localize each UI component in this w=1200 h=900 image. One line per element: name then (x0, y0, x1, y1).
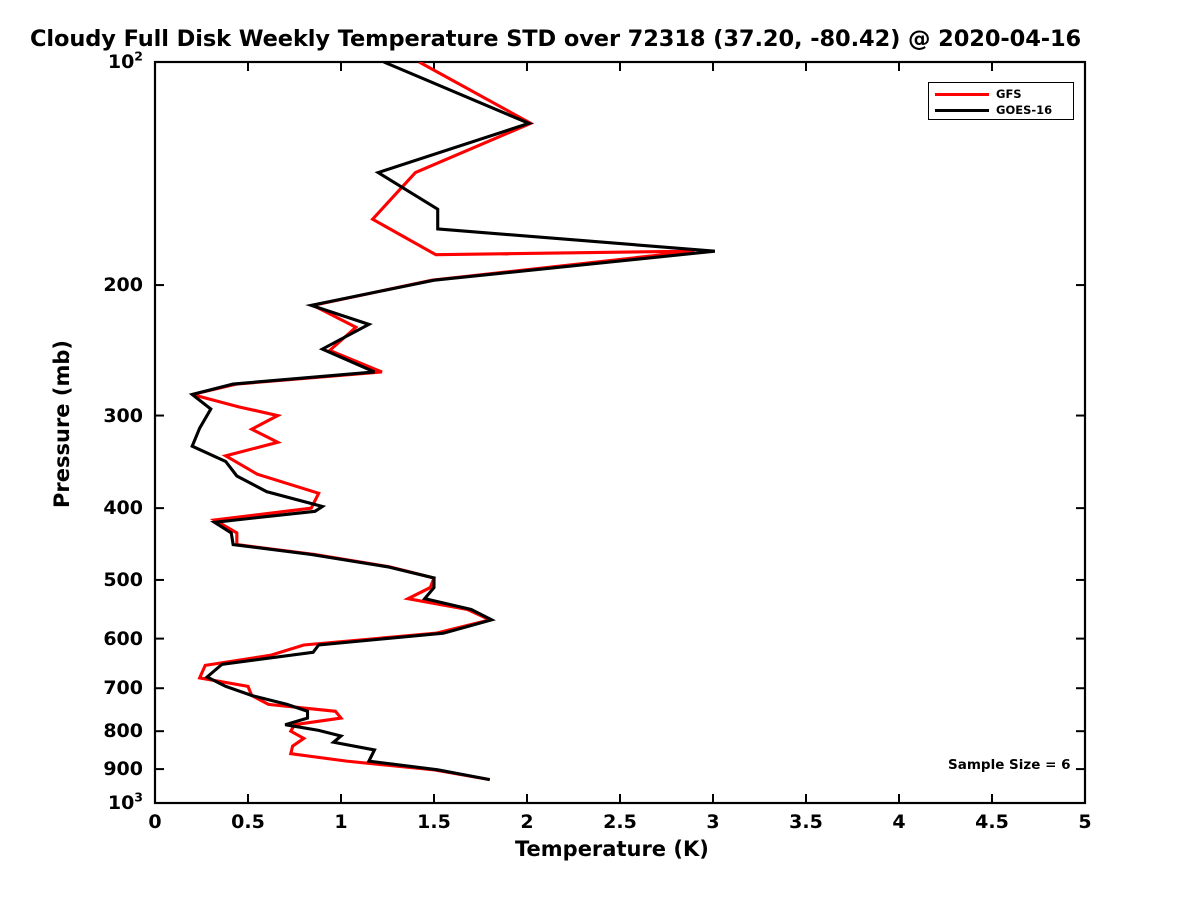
chart-figure: Cloudy Full Disk Weekly Temperature STD … (0, 0, 1200, 900)
y-tick-label: 800 (43, 720, 143, 742)
y-tick-label: 103 (43, 792, 143, 814)
legend-label-gfs: GFS (996, 87, 1022, 101)
legend-swatch-gfs (935, 93, 989, 96)
legend-item-gfs: GFS (935, 86, 1022, 102)
legend: GFS GOES-16 (928, 82, 1074, 120)
y-tick-label: 200 (43, 274, 143, 296)
x-tick-label: 1.5 (417, 811, 451, 833)
y-tick-label: 500 (43, 569, 143, 591)
y-tick-label: 102 (43, 51, 143, 73)
sample-size-annotation: Sample Size = 6 (948, 757, 1071, 773)
x-tick-label: 0 (148, 811, 161, 833)
x-tick-label: 4.5 (975, 811, 1009, 833)
data-series-group (192, 62, 715, 780)
legend-item-goes16: GOES-16 (935, 102, 1052, 118)
series-line-gfs (192, 62, 694, 780)
x-tick-label: 2.5 (603, 811, 637, 833)
x-tick-label: 5 (1078, 811, 1091, 833)
x-tick-label: 1 (334, 811, 347, 833)
legend-swatch-goes16 (935, 109, 989, 112)
y-tick-label: 700 (43, 677, 143, 699)
y-tick-label: 900 (43, 758, 143, 780)
axis-ticks (155, 62, 1085, 803)
y-axis-label: Pressure (mb) (50, 324, 74, 524)
x-tick-label: 0.5 (231, 811, 265, 833)
x-tick-label: 4 (892, 811, 905, 833)
x-tick-label: 2 (520, 811, 533, 833)
y-tick-label: 600 (43, 628, 143, 650)
legend-label-goes16: GOES-16 (996, 103, 1052, 117)
x-axis-label: Temperature (K) (515, 837, 709, 861)
plot-frame (155, 62, 1085, 803)
x-tick-label: 3 (706, 811, 719, 833)
x-tick-label: 3.5 (789, 811, 823, 833)
